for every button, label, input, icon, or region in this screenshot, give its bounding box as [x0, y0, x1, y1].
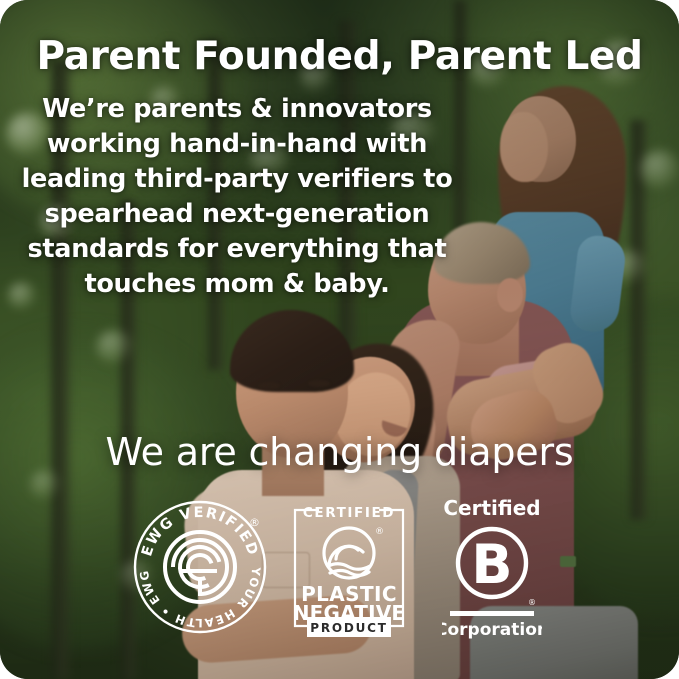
- certification-badges: EWG VERIFIED FOR YOUR HEALTH • EWG.ORG ®: [0, 496, 679, 646]
- text-overlay: Parent Founded, Parent Led We’re parents…: [0, 0, 679, 679]
- bcorp-certified-label: Certified: [443, 496, 540, 520]
- badge-plastic-negative: CERTIFIED ® PLASTIC NEGATIVE PRODUC: [289, 496, 409, 641]
- body-line: spearhead next-generation: [18, 197, 456, 232]
- concentric-e-icon: [165, 532, 235, 602]
- plastic-registered-mark: ®: [375, 527, 384, 537]
- body-line: touches mom & baby.: [18, 267, 456, 302]
- bcorp-letter: B: [471, 533, 512, 596]
- body-line: working hand-in-hand with: [18, 127, 456, 162]
- wave-circle-icon: ®: [324, 527, 384, 578]
- tagline: We are changing diapers: [0, 430, 679, 474]
- body-line: leading third-party verifiers to: [18, 162, 456, 197]
- page-title: Parent Founded, Parent Led: [0, 34, 679, 79]
- badge-bcorp: Certified B ® Corporation: [442, 493, 542, 640]
- bcorp-corporation-label: Corporation: [442, 620, 542, 640]
- ad-card: Parent Founded, Parent Led We’re parents…: [0, 0, 679, 679]
- body-copy: We’re parents & innovators working hand-…: [18, 92, 456, 302]
- badge-ewg-verified: EWG VERIFIED FOR YOUR HEALTH • EWG.ORG ®: [133, 500, 267, 634]
- bcorp-rule: [450, 611, 534, 616]
- body-line: standards for everything that: [18, 232, 456, 267]
- circled-b-icon: B ®: [458, 529, 536, 607]
- bcorp-registered-mark: ®: [528, 598, 536, 607]
- body-line: We’re parents & innovators: [18, 92, 456, 127]
- ewg-registered-mark: ®: [249, 516, 260, 529]
- plastic-product-label: PRODUCT: [310, 621, 388, 635]
- plastic-certified-label: CERTIFIED: [303, 505, 395, 521]
